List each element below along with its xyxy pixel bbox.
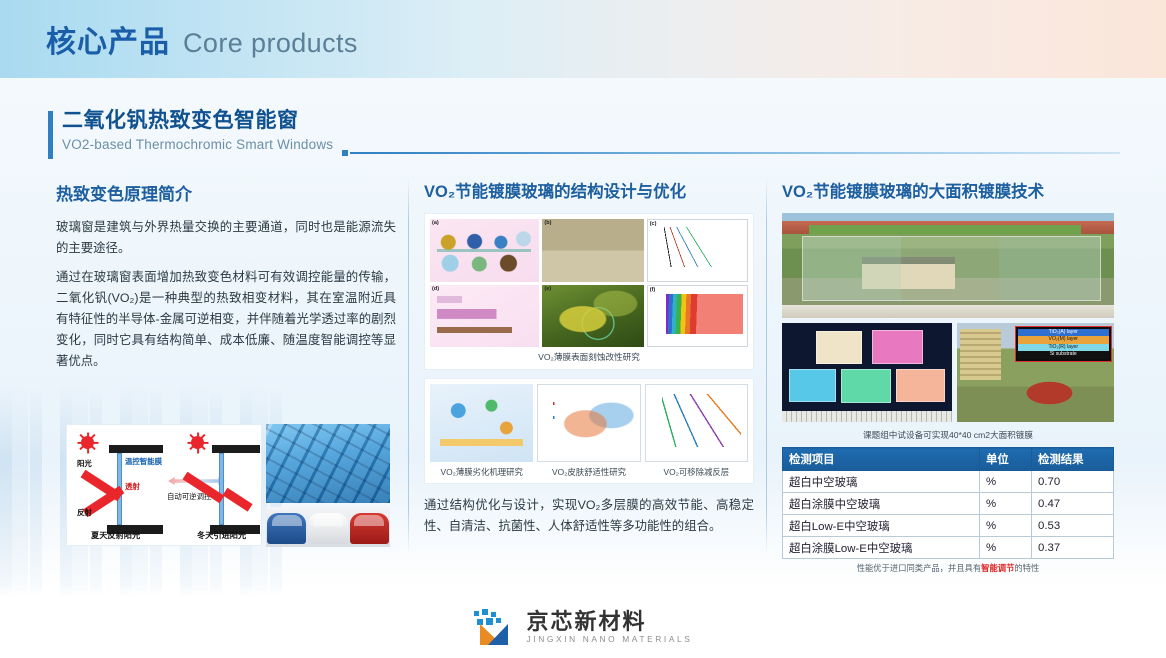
col3-title: VO₂节能镀膜玻璃的大面积镀膜技术 xyxy=(782,178,1114,202)
table-row: 超白涂膜中空玻璃 % 0.47 xyxy=(783,493,1114,515)
coated-glass-overlay xyxy=(802,236,1101,301)
col1-paragraph-1: 玻璃窗是建筑与外界热量交换的主要通道，同时也是能源流失的主要途径。 xyxy=(56,217,396,259)
cell-item: 超白涂膜Low-E中空玻璃 xyxy=(783,537,980,559)
col3-photo-caption: 课题组中试设备可实现40*40 cm2大面积镀膜 xyxy=(782,422,1114,441)
figure-degradation xyxy=(430,384,533,462)
col2-title: VO₂节能镀膜玻璃的结构设计与优化 xyxy=(424,178,754,202)
header-title-cn: 核心产品 xyxy=(46,17,170,61)
figure-skin-comfort xyxy=(537,384,640,462)
panel-c-transmittance-chart: (c) xyxy=(647,219,748,282)
footnote-highlight: 智能调节 xyxy=(981,563,1014,573)
col1-photo-stack xyxy=(266,424,390,547)
ruler xyxy=(782,411,952,422)
col3-photo-row: TiO₂(A) layer VO₂(M) layer TiO₂(R) layer… xyxy=(782,323,1114,422)
scientific-panel-grid: (a) (b) (c) (d) (e) (f) xyxy=(430,219,748,347)
slide-footer: 京芯新材料 JINGXIN NANO MATERIALS xyxy=(0,596,1166,658)
caption-skin-comfort: VO₂皮肤舒适性研究 xyxy=(537,466,640,478)
header-title-en: Core products xyxy=(183,28,358,59)
column-divider-1 xyxy=(408,176,409,554)
panel-b-samples: (b) xyxy=(542,219,643,282)
test-results-table: 检测项目 单位 检测结果 超白中空玻璃 % 0.70 超白涂膜中空玻璃 % 0.… xyxy=(782,447,1114,559)
sample-pink xyxy=(872,330,923,364)
table-row: 超白涂膜Low-E中空玻璃 % 0.37 xyxy=(783,537,1114,559)
cell-result: 0.47 xyxy=(1032,493,1114,515)
column-structure-design: VO₂节能镀膜玻璃的结构设计与优化 (a) (b) (c) (d) (e) (f… xyxy=(424,178,754,537)
cell-result: 0.37 xyxy=(1032,537,1114,559)
logo-name-cn: 京芯新材料 xyxy=(527,610,693,634)
caption-antireflection: VO₂可移除减反层 xyxy=(645,466,748,478)
cars-photo xyxy=(266,507,390,547)
stack-layer-si-substrate: Si substrate xyxy=(1018,351,1109,358)
car-white xyxy=(308,513,347,544)
panel-d-process: (d) xyxy=(430,285,539,348)
label-sunlight-summer: 阳光 xyxy=(77,458,92,469)
cell-result: 0.70 xyxy=(1032,471,1114,493)
footnote-prefix: 性能优于进口同类产品，并且具有 xyxy=(857,563,981,573)
col1-figure-row: 阳光 温控智能膜 透射 反射 自动可逆调控 夏天反射阳光 冬天引进阳光 xyxy=(66,424,390,547)
colored-samples-photo xyxy=(782,323,952,422)
column-divider-2 xyxy=(766,176,767,554)
red-foliage xyxy=(1023,380,1076,406)
photo-base-shelf xyxy=(782,305,1114,318)
column-large-area-coating: VO₂节能镀膜玻璃的大面积镀膜技术 TiO₂(A) layer xyxy=(782,178,1114,574)
panel-f-spectrum-chart: (f) xyxy=(647,285,748,348)
col2-three-figure-captions: VO₂薄膜劣化机理研究 VO₂皮肤舒适性研究 VO₂可移除减反层 xyxy=(430,462,748,478)
sun-icon-winter xyxy=(191,436,204,449)
cell-unit: % xyxy=(980,537,1032,559)
section-title-cn: 二氧化钒热致变色智能窗 xyxy=(62,108,333,134)
figure-antireflection xyxy=(645,384,748,462)
th-result: 检测结果 xyxy=(1032,448,1114,471)
header-title-group: 核心产品 Core products xyxy=(46,17,358,61)
slide-header: 核心产品 Core products xyxy=(0,0,1166,78)
column-principle: 热致变色原理简介 玻璃窗是建筑与外界热量交换的主要通道，同时也是能源流失的主要途… xyxy=(56,180,396,372)
window-pane-winter xyxy=(219,453,224,525)
col2-figure-1-caption: VO₂薄膜表面刻蚀改性研究 xyxy=(430,347,748,364)
cell-result: 0.53 xyxy=(1032,515,1114,537)
col2-figure-card-2: VO₂薄膜劣化机理研究 VO₂皮肤舒适性研究 VO₂可移除减反层 xyxy=(424,378,754,484)
col2-three-figure-grid xyxy=(430,384,748,462)
site-view-photo: TiO₂(A) layer VO₂(M) layer TiO₂(R) layer… xyxy=(957,323,1114,422)
cell-unit: % xyxy=(980,493,1032,515)
col2-conclusion-text: 通过结构优化与设计，实现VO₂多层膜的高效节能、高稳定性、自清洁、抗菌性、人体舒… xyxy=(424,495,754,537)
window-frame-top-winter xyxy=(212,445,260,453)
col1-paragraph-2: 通过在玻璃窗表面增加热致变色材料可有效调控能量的传输，二氧化钒(VO₂)是一种典… xyxy=(56,267,396,372)
diagram-caption-winter: 冬天引进阳光 xyxy=(197,529,246,541)
sample-green xyxy=(841,369,890,404)
th-unit: 单位 xyxy=(980,448,1032,471)
film-stack-diagram: TiO₂(A) layer VO₂(M) layer TiO₂(R) layer… xyxy=(1015,326,1112,362)
logo-name-en: JINGXIN NANO MATERIALS xyxy=(527,634,693,644)
section-title-block: 二氧化钒热致变色智能窗 VO2-based Thermochromic Smar… xyxy=(48,108,333,152)
company-logo-text: 京芯新材料 JINGXIN NANO MATERIALS xyxy=(527,610,693,644)
panel-a-synthesis: (a) xyxy=(430,219,539,282)
sun-icon-summer xyxy=(81,436,94,449)
label-smart-film: 温控智能膜 xyxy=(125,456,162,467)
large-coated-glass-photo xyxy=(782,213,1114,318)
summer-winter-diagram: 阳光 温控智能膜 透射 反射 自动可逆调控 夏天反射阳光 冬天引进阳光 xyxy=(66,424,262,546)
cell-item: 超白涂膜中空玻璃 xyxy=(783,493,980,515)
col2-figure-card-1: (a) (b) (c) (d) (e) (f) VO₂薄膜表面刻蚀改性研究 xyxy=(424,213,754,370)
sample-peach xyxy=(896,369,945,403)
cell-item: 超白Low-E中空玻璃 xyxy=(783,515,980,537)
table-row: 超白中空玻璃 % 0.70 xyxy=(783,471,1114,493)
building-facade xyxy=(960,329,1001,380)
logo-triangle-blue xyxy=(488,624,508,645)
panel-e-leaf-photo: (e) xyxy=(542,285,643,348)
ray-transmitted-winter xyxy=(223,488,253,512)
sample-beige xyxy=(816,331,862,364)
section-divider-rule xyxy=(350,152,1120,154)
stack-layer-vo2-m: VO₂(M) layer xyxy=(1018,336,1109,343)
stack-layer-tio2-a: TiO₂(A) layer xyxy=(1018,329,1109,336)
table-footnote: 性能优于进口同类产品，并且具有智能调节的特性 xyxy=(782,559,1114,574)
table-header-row: 检测项目 单位 检测结果 xyxy=(783,448,1114,471)
table-row: 超白Low-E中空玻璃 % 0.53 xyxy=(783,515,1114,537)
sports-field xyxy=(809,225,1081,234)
cell-unit: % xyxy=(980,471,1032,493)
car-blue xyxy=(267,513,306,544)
window-frame-top-summer xyxy=(109,445,163,453)
cell-item: 超白中空玻璃 xyxy=(783,471,980,493)
footnote-suffix: 的特性 xyxy=(1014,563,1039,573)
stack-layer-tio2-r: TiO₂(R) layer xyxy=(1018,344,1109,351)
sample-cyan xyxy=(789,369,837,403)
col1-title: 热致变色原理简介 xyxy=(56,180,396,205)
section-accent-bar xyxy=(48,111,53,159)
cell-unit: % xyxy=(980,515,1032,537)
car-red xyxy=(350,513,389,544)
slide-root: 核心产品 Core products 二氧化钒热致变色智能窗 VO2-based… xyxy=(0,0,1166,658)
company-logo-icon xyxy=(474,609,518,645)
label-transmit: 透射 xyxy=(125,481,140,492)
th-item: 检测项目 xyxy=(783,448,980,471)
caption-degradation: VO₂薄膜劣化机理研究 xyxy=(430,466,533,478)
section-title-en: VO2-based Thermochromic Smart Windows xyxy=(62,137,333,152)
glass-curtain-wall-photo xyxy=(266,424,390,503)
label-reflect: 反射 xyxy=(77,507,92,518)
diagram-caption-summer: 夏天反射阳光 xyxy=(91,529,140,541)
